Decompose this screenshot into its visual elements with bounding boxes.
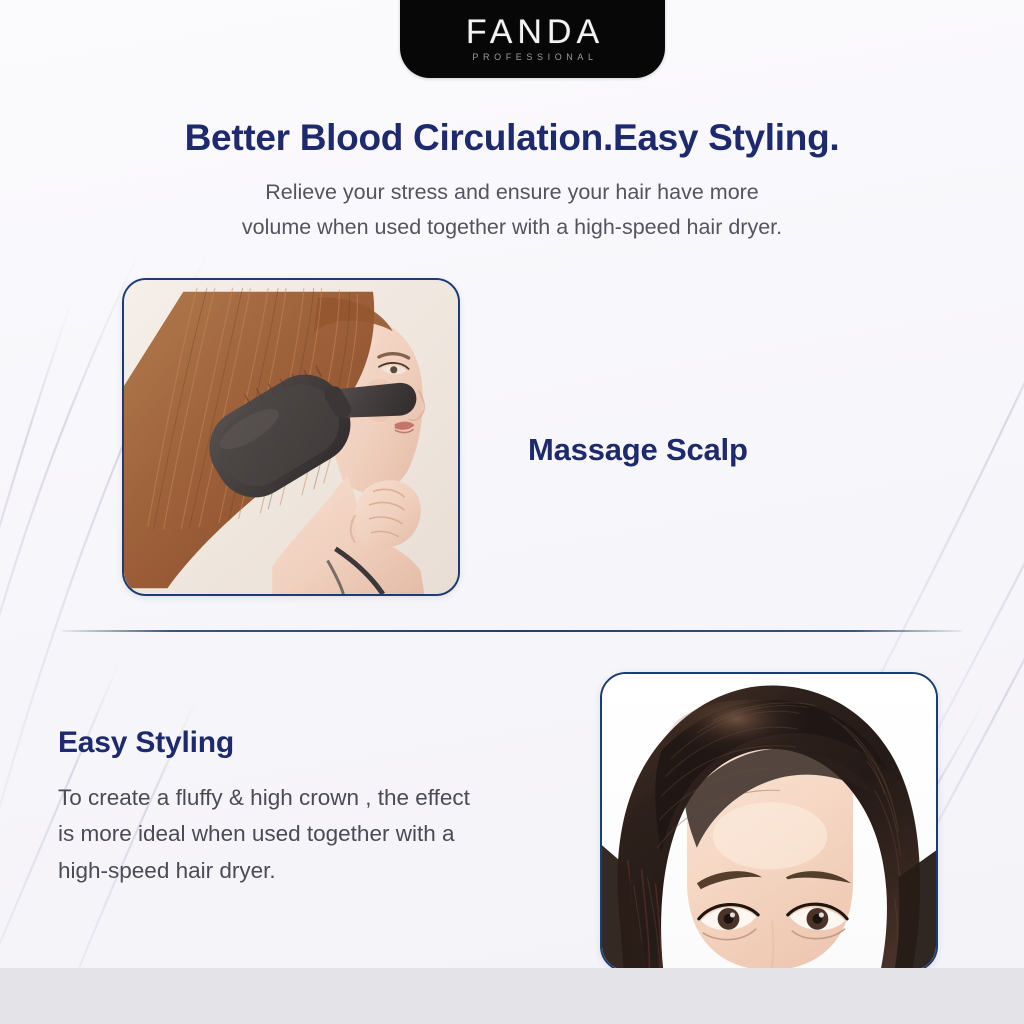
- easy-styling-photo-frame: [600, 672, 938, 972]
- header-block: Better Blood Circulation.Easy Styling. R…: [0, 118, 1024, 246]
- bottom-strip: [0, 968, 1024, 1024]
- feature-massage-scalp-title: Massage Scalp: [528, 432, 748, 468]
- brand-wordmark: FANDA: [461, 15, 604, 49]
- promo-canvas: FANDA PROFESSIONAL Better Blood Circulat…: [0, 0, 1024, 1024]
- feature-easy-styling-body: To create a fluffy & high crown , the ef…: [58, 780, 598, 889]
- page-headline: Better Blood Circulation.Easy Styling.: [0, 118, 1024, 159]
- easy-styling-body-line-1: To create a fluffy & high crown , the ef…: [58, 780, 598, 816]
- easy-styling-body-line-3: high-speed hair dryer.: [58, 853, 598, 889]
- feature-easy-styling-title: Easy Styling: [58, 726, 598, 760]
- page-subheadline: Relieve your stress and ensure your hair…: [0, 175, 1024, 246]
- massage-scalp-photo: [124, 280, 458, 594]
- subheadline-line-2: volume when used together with a high-sp…: [0, 210, 1024, 246]
- section-divider: [62, 630, 962, 632]
- massage-scalp-photo-frame: [122, 278, 460, 596]
- subheadline-line-1: Relieve your stress and ensure your hair…: [265, 180, 759, 204]
- brand-logo-tab: FANDA PROFESSIONAL: [400, 0, 665, 78]
- easy-styling-photo: [602, 674, 936, 970]
- easy-styling-body-line-2: is more ideal when used together with a: [58, 816, 598, 852]
- brand-tagline: PROFESSIONAL: [467, 53, 597, 62]
- feature-easy-styling-text: Easy Styling To create a fluffy & high c…: [58, 726, 598, 889]
